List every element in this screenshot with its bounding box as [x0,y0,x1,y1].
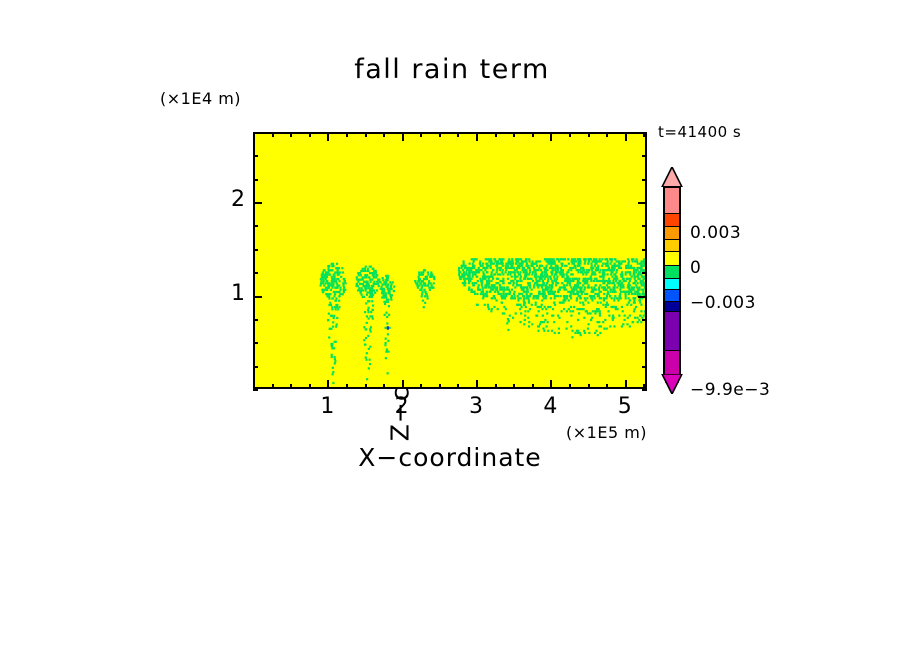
x-tick-top [550,132,552,141]
y-axis-unit-caption: (×1E4 m) [160,89,241,108]
y-tick [253,249,258,251]
colorbar-top-arrow [661,167,683,187]
x-tick-label: 2 [387,394,417,419]
y-tick-right [642,179,647,181]
colorbar-segment-6 [665,278,679,289]
x-tick [253,380,255,389]
x-tick [625,380,627,389]
x-tick [513,384,515,389]
y-tick-right [642,225,647,227]
y-tick-right [638,202,647,204]
y-tick [253,296,262,298]
x-tick-top [606,132,608,137]
x-axis-unit-caption: (×1E5 m) [566,423,647,442]
colorbar-label-2: −0.003 [690,293,756,313]
heatmap-canvas [255,134,645,387]
x-tick [476,380,478,389]
plot-area[interactable] [253,132,647,389]
x-tick [309,384,311,389]
y-tick [253,342,258,344]
x-tick [365,384,367,389]
y-tick-right [642,342,647,344]
x-tick [606,384,608,389]
x-tick [420,384,422,389]
y-tick-right [642,249,647,251]
y-tick [253,132,258,134]
colorbar-segment-5 [665,265,679,278]
x-tick [290,384,292,389]
x-tick [495,384,497,389]
x-tick [457,384,459,389]
y-tick [253,225,258,227]
x-tick-label: 4 [535,394,565,419]
heatmap-background [255,134,645,387]
colorbar-segment-2 [665,226,679,239]
page-title: fall rain term [0,54,904,85]
x-axis-title: X−coordinate [253,443,647,472]
colorbar-segment-3 [665,239,679,252]
y-tick-right [642,272,647,274]
x-tick-label: 3 [461,394,491,419]
x-tick-top [365,132,367,137]
y-tick-label: 1 [215,281,245,306]
x-tick [439,384,441,389]
x-tick-top [290,132,292,137]
x-tick-label: 1 [312,394,342,419]
y-tick [253,272,258,274]
y-tick-right [642,132,647,134]
y-tick-right [642,366,647,368]
time-annotation: t=41400 s [658,123,741,141]
x-tick [569,384,571,389]
x-tick-top [383,132,385,137]
x-tick-top [272,132,274,137]
y-tick-label: 2 [215,187,245,212]
x-tick [272,384,274,389]
x-tick-top [569,132,571,137]
x-tick-top [402,132,404,141]
x-tick-top [625,132,627,141]
x-tick-top [532,132,534,137]
negative-value-cell [387,326,389,329]
y-tick-right [642,389,647,391]
colorbar-segment-8 [665,301,679,311]
colorbar-segment-4 [665,251,679,265]
x-tick-label: 5 [610,394,640,419]
x-tick [402,380,404,389]
x-tick-top [439,132,441,137]
y-tick [253,366,258,368]
x-tick-top [346,132,348,137]
x-tick [588,384,590,389]
colorbar-bottom-arrow [661,374,683,394]
x-tick [327,380,329,389]
x-tick-top [309,132,311,137]
y-tick [253,179,258,181]
y-tick-right [642,319,647,321]
y-tick [253,202,262,204]
colorbar-label-0: 0.003 [690,223,741,243]
colorbar-segment-7 [665,289,679,300]
x-tick-top [457,132,459,137]
colorbar-segment-1 [665,213,679,226]
x-tick-top [513,132,515,137]
x-tick [550,380,552,389]
y-tick-right [638,296,647,298]
x-tick [532,384,534,389]
x-tick-top [495,132,497,137]
x-tick-top [327,132,329,141]
y-tick [253,155,258,157]
y-tick-right [642,155,647,157]
colorbar-segment-0 [665,188,679,213]
y-tick [253,319,258,321]
x-tick-top [588,132,590,137]
x-tick-top [476,132,478,141]
x-tick [346,384,348,389]
colorbar[interactable] [663,186,681,375]
y-tick [253,389,258,391]
x-tick [383,384,385,389]
x-tick-top [420,132,422,137]
colorbar-segment-9 [665,311,679,350]
colorbar-label-3: −9.9e−3 [690,380,770,400]
colorbar-label-1: 0 [690,258,701,278]
